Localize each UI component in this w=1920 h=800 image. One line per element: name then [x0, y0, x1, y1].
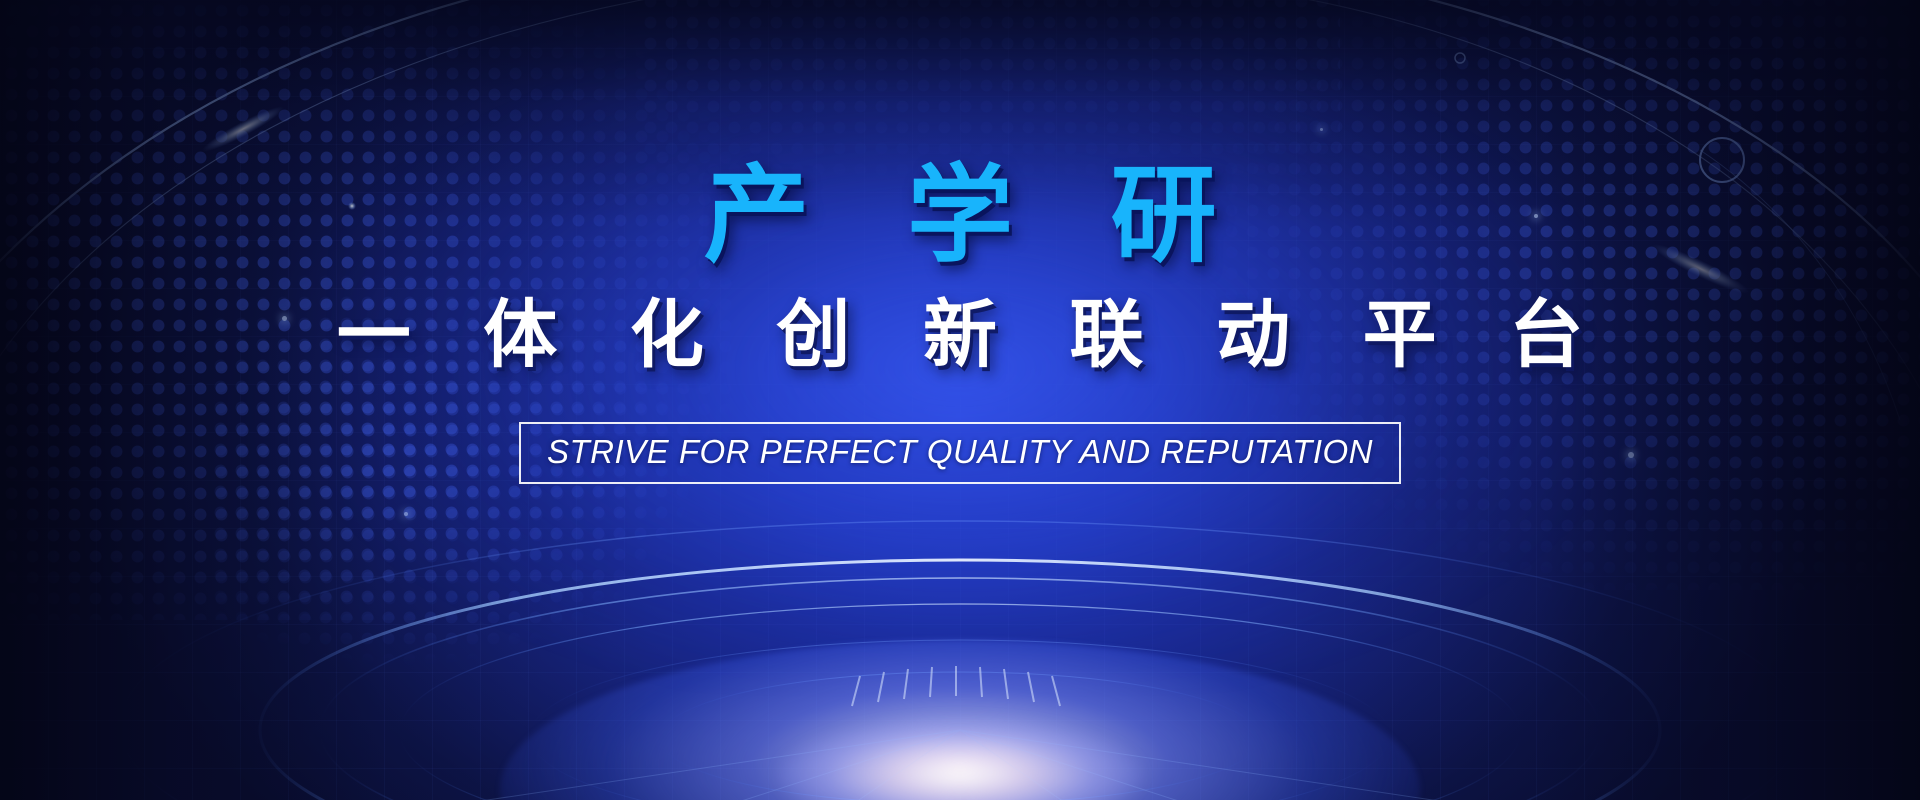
banner-content: 产 学 研 一 体 化 创 新 联 动 平 台 STRIVE FOR PERFE…	[0, 0, 1920, 800]
tagline-box: STRIVE FOR PERFECT QUALITY AND REPUTATIO…	[519, 422, 1401, 484]
page-subtitle: 一 体 化 创 新 联 动 平 台	[311, 294, 1609, 375]
hero-banner: 产 学 研 一 体 化 创 新 联 动 平 台 STRIVE FOR PERFE…	[0, 0, 1920, 800]
tagline-text: STRIVE FOR PERFECT QUALITY AND REPUTATIO…	[547, 433, 1373, 471]
page-title: 产 学 研	[670, 160, 1251, 272]
